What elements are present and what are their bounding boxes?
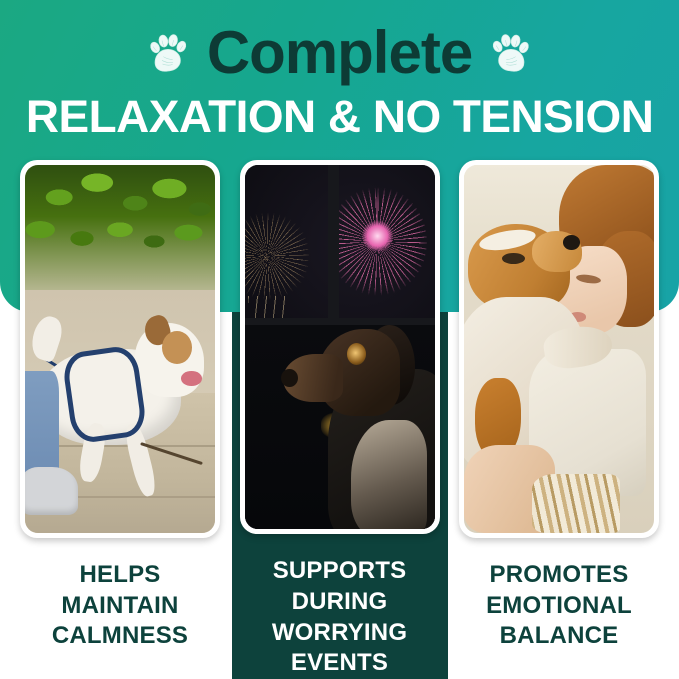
header: Complete <box>0 0 679 160</box>
benefit-caption-1: HELPS MAINTAIN CALMNESS <box>52 560 188 652</box>
paw-print-icon <box>488 30 534 76</box>
benefit-column-3: PROMOTES EMOTIONAL BALANCE <box>459 160 659 679</box>
photo-dog-face-patch <box>162 331 192 364</box>
photo-child-sleeping-with-dog <box>464 165 654 533</box>
benefit-caption-2: SUPPORTS DURING WORRYING EVENTS <box>272 556 407 679</box>
photo-card-1 <box>20 160 220 538</box>
photo-dog-walking-on-leash <box>25 165 215 533</box>
page-subtitle: RELAXATION & NO TENSION <box>26 94 653 139</box>
benefit-columns: HELPS MAINTAIN CALMNESS <box>0 160 679 679</box>
title-row: Complete <box>145 16 534 90</box>
photo-dog-chest-fur <box>351 420 427 529</box>
photo-dog-nose <box>281 369 298 387</box>
photo-striped-bedding <box>532 474 619 533</box>
photo-dog-watching-fireworks <box>245 165 435 529</box>
benefit-column-2: SUPPORTS DURING WORRYING EVENTS <box>240 160 440 679</box>
benefit-caption-3: PROMOTES EMOTIONAL BALANCE <box>486 560 632 652</box>
photo-dog-tongue <box>181 371 202 386</box>
benefit-column-1: HELPS MAINTAIN CALMNESS <box>20 160 220 679</box>
photo-dog-harness <box>61 344 148 444</box>
photo-window-mullion <box>328 165 339 332</box>
photo-firework-core <box>362 220 392 253</box>
infographic-banner: Complete <box>0 0 679 679</box>
photo-dog-nose <box>563 235 580 250</box>
photo-card-2 <box>240 160 440 534</box>
photo-card-3 <box>459 160 659 538</box>
paw-print-icon <box>145 30 191 76</box>
photo-person-shoe <box>25 467 78 515</box>
page-title: Complete <box>207 23 472 83</box>
